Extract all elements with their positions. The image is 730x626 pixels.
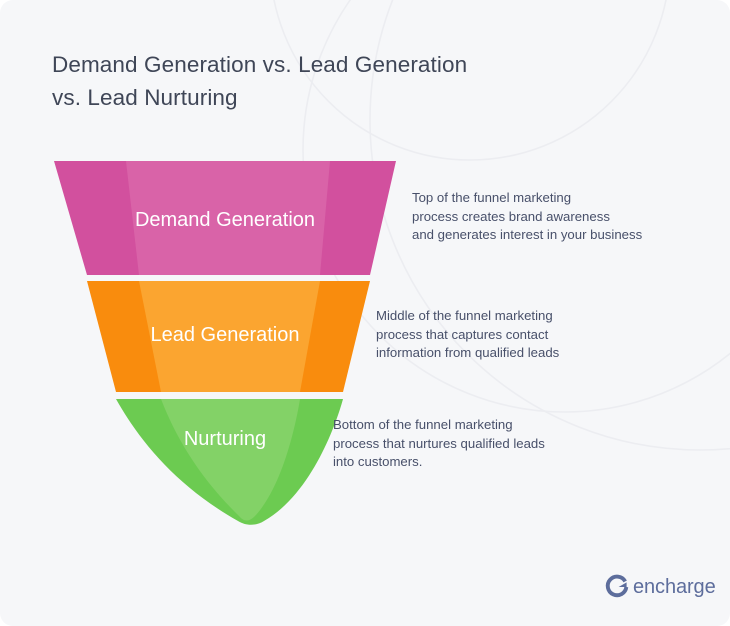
infographic-card: Demand Generation vs. Lead Generation vs…	[0, 0, 730, 626]
funnel-label-lead-generation: Lead Generation	[84, 323, 366, 347]
funnel-stage-nurturing	[116, 399, 343, 525]
funnel-description-nurturing: Bottom of the funnel marketing process t…	[333, 416, 633, 472]
encharge-wordmark: encharge	[633, 577, 716, 597]
encharge-ring-arrow-icon	[604, 574, 630, 600]
funnel-description-lead-generation: Middle of the funnel marketing process t…	[376, 307, 676, 363]
encharge-logo: encharge	[604, 574, 716, 600]
funnel-label-demand-generation: Demand Generation	[54, 208, 396, 232]
funnel-description-demand-generation: Top of the funnel marketing process crea…	[412, 189, 712, 245]
funnel-label-nurturing: Nurturing	[120, 427, 330, 451]
